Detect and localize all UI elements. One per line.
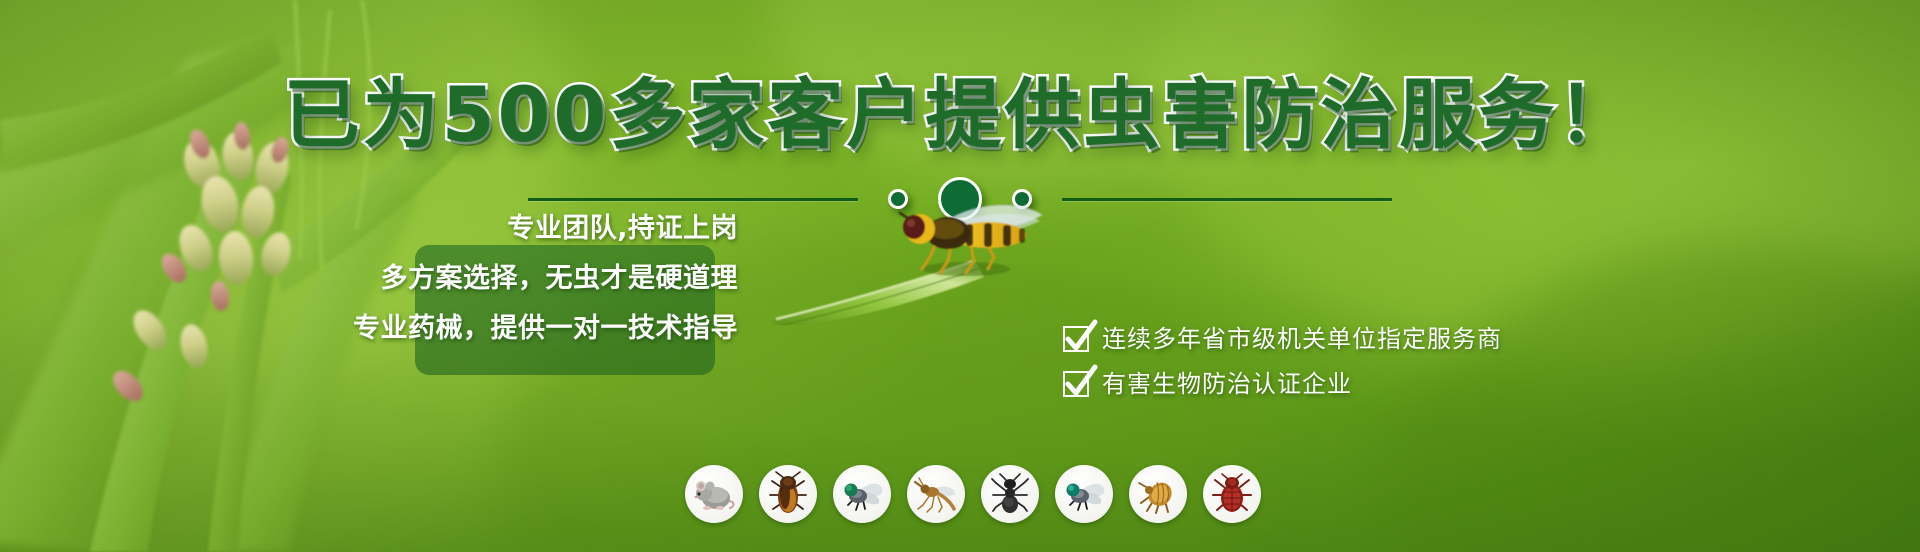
checkbox-checked-icon bbox=[1063, 371, 1089, 397]
pest-icon-fly[interactable] bbox=[833, 465, 891, 523]
pest-icon-row bbox=[685, 465, 1261, 523]
pest-icon-ant[interactable] bbox=[981, 465, 1039, 523]
feature-line-2: 多方案选择，无虫才是硬道理 bbox=[381, 262, 739, 296]
checklist-item: 有害生物防治认证企业 bbox=[1063, 370, 1502, 398]
fly-icon bbox=[839, 471, 885, 517]
bedbug-icon bbox=[1209, 471, 1255, 517]
checklist-item-label: 连续多年省市级机关单位指定服务商 bbox=[1102, 325, 1502, 353]
cockroach-icon bbox=[765, 471, 811, 517]
mouse-icon bbox=[691, 471, 737, 517]
pest-icon-flea[interactable] bbox=[1129, 465, 1187, 523]
pest-icon-cockroach[interactable] bbox=[759, 465, 817, 523]
checklist-item: 连续多年省市级机关单位指定服务商 bbox=[1063, 325, 1502, 353]
ant-icon bbox=[987, 471, 1033, 517]
checkbox-checked-icon bbox=[1063, 326, 1089, 352]
flea-icon bbox=[1135, 471, 1181, 517]
page-title: 已为500多家客户提供虫害防治服务！ bbox=[0, 72, 1920, 158]
feature-line-3: 专业药械，提供一对一技术指导 bbox=[353, 312, 738, 346]
pest-control-hero-banner: 已为500多家客户提供虫害防治服务！ bbox=[0, 0, 1920, 552]
mosquito-icon bbox=[913, 471, 959, 517]
hoverfly-on-leaf-image bbox=[770, 195, 1110, 325]
credentials-checklist: 连续多年省市级机关单位指定服务商 有害生物防治认证企业 bbox=[1063, 325, 1502, 398]
pest-icon-mouse[interactable] bbox=[685, 465, 743, 523]
feature-line-1: 专业团队,持证上岗 bbox=[507, 212, 738, 246]
feature-panel: 专业团队,持证上岗 多方案选择，无虫才是硬道理 专业药械，提供一对一技术指导 bbox=[338, 212, 738, 346]
pest-icon-bedbug[interactable] bbox=[1203, 465, 1261, 523]
blowfly-icon bbox=[1061, 471, 1107, 517]
checklist-item-label: 有害生物防治认证企业 bbox=[1102, 370, 1352, 398]
pest-icon-mosquito[interactable] bbox=[907, 465, 965, 523]
divider-line-right bbox=[1062, 198, 1392, 201]
pest-icon-blowfly[interactable] bbox=[1055, 465, 1113, 523]
headline-text: 已为500多家客户提供虫害防治服务！ bbox=[284, 70, 1637, 159]
